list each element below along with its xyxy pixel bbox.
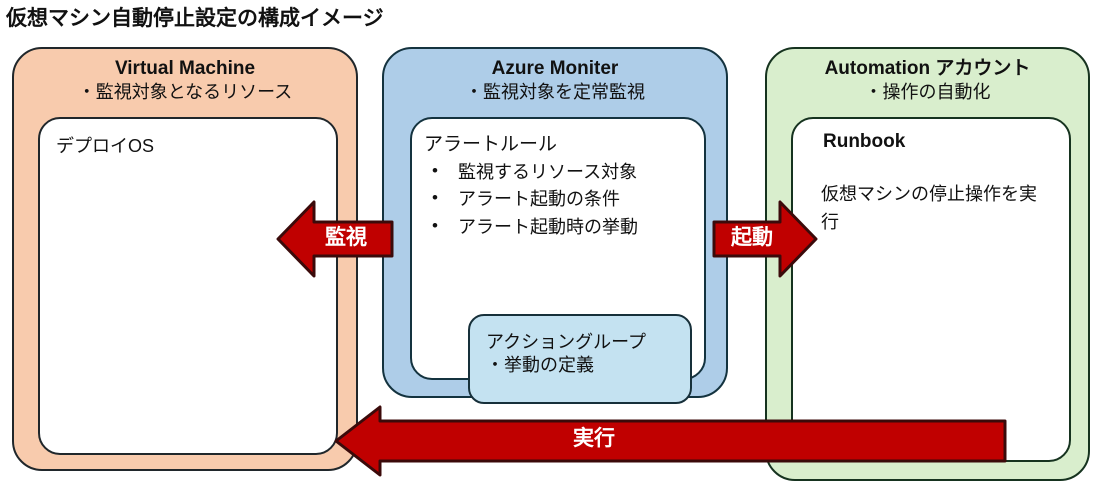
panel-automation-account-title: Automation アカウント	[777, 58, 1078, 80]
panel-automation-account-header: Automation アカウント ・操作の自動化	[767, 58, 1088, 103]
box-action-group-subtitle: ・挙動の定義	[486, 354, 646, 377]
arrow-trigger: 起動	[712, 198, 818, 280]
arrow-left-icon	[334, 405, 1101, 477]
arrow-execute: 実行	[334, 405, 1101, 477]
box-action-group-title: アクショングループ	[486, 331, 646, 354]
page-title: 仮想マシン自動停止設定の構成イメージ	[6, 2, 384, 32]
arrow-monitor-label: 監視	[316, 227, 376, 248]
box-deploy-os-title: デプロイOS	[56, 132, 154, 158]
panel-virtual-machine-title: Virtual Machine	[24, 58, 346, 80]
box-alert-rule: アラートルール 監視するリソース対象 アラート起動の条件 アラート起動時の挙動 …	[410, 117, 706, 380]
panel-automation-account-subtitle: ・操作の自動化	[777, 82, 1078, 104]
panel-azure-monitor-title: Azure Moniter	[394, 58, 716, 80]
box-runbook-body: 仮想マシンの停止操作を実行	[821, 181, 1053, 237]
panel-azure-monitor: Azure Moniter ・監視対象を定常監視 アラートルール 監視するリソー…	[382, 47, 728, 398]
panel-virtual-machine-subtitle: ・監視対象となるリソース	[24, 82, 346, 104]
diagram-canvas: 仮想マシン自動停止設定の構成イメージ Virtual Machine ・監視対象…	[0, 0, 1101, 487]
list-item: 監視するリソース対象	[428, 159, 638, 186]
arrow-monitor: 監視	[276, 198, 394, 280]
box-deploy-os: デプロイOS	[38, 117, 338, 455]
box-runbook-title: Runbook	[823, 131, 905, 153]
panel-azure-monitor-subtitle: ・監視対象を定常監視	[394, 82, 716, 104]
box-action-group: アクショングループ ・挙動の定義	[468, 314, 692, 404]
arrow-trigger-label: 起動	[722, 227, 782, 248]
arrow-execute-label: 実行	[534, 428, 654, 449]
box-action-group-content: アクショングループ ・挙動の定義	[486, 331, 646, 378]
list-item: アラート起動の条件	[428, 186, 638, 213]
panel-azure-monitor-header: Azure Moniter ・監視対象を定常監視	[384, 58, 726, 103]
list-item: アラート起動時の挙動	[428, 214, 638, 241]
box-alert-rule-title: アラートルール	[424, 129, 557, 156]
panel-virtual-machine-header: Virtual Machine ・監視対象となるリソース	[14, 58, 356, 103]
alert-rule-bullet-list: 監視するリソース対象 アラート起動の条件 アラート起動時の挙動	[428, 159, 638, 241]
